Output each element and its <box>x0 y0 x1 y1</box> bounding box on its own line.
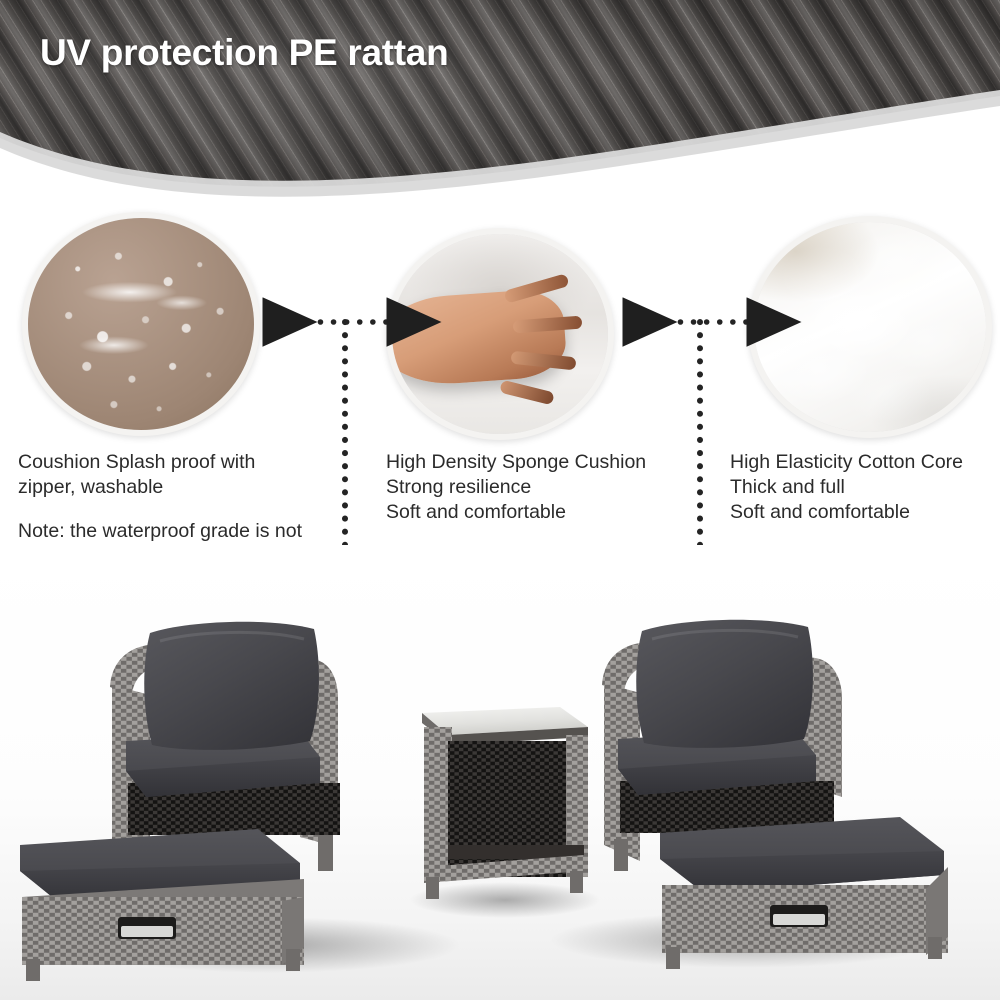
hero-banner: UV protection PE rattan <box>0 0 1000 200</box>
feature-image-sponge-cushion <box>386 228 614 440</box>
feature-image-cotton-core <box>748 216 992 438</box>
feature-note-line: Note: the waterproof grade is not <box>18 519 348 544</box>
ottoman-right <box>660 817 948 969</box>
feature-text-cotton-core: High Elasticity Cotton Core Thick and fu… <box>730 450 1000 525</box>
feature-line: Soft and comfortable <box>730 500 1000 525</box>
feature-image-splash-proof <box>22 212 260 436</box>
page-title: UV protection PE rattan <box>40 32 448 74</box>
product-photo <box>0 545 1000 1000</box>
feature-line: High Elasticity Cotton Core <box>730 450 1000 475</box>
feature-description: Coushion Splash proof with zipper, washa… <box>18 450 348 500</box>
cotton-shading <box>754 222 986 432</box>
patio-furniture-set <box>0 545 1000 1000</box>
product-feature-infographic: UV protection PE rattan <box>0 0 1000 1000</box>
ottoman-left <box>20 829 304 981</box>
feature-line: zipper, washable <box>18 475 348 500</box>
feature-line: Soft and comfortable <box>386 500 696 525</box>
banner-wave-divider <box>0 80 1000 200</box>
feature-line: High Density Sponge Cushion <box>386 450 696 475</box>
feature-line: Thick and full <box>730 475 1000 500</box>
feature-line: Strong resilience <box>386 475 696 500</box>
feature-text-sponge-cushion: High Density Sponge Cushion Strong resil… <box>386 450 696 525</box>
side-table <box>422 707 588 899</box>
water-droplets-icon <box>28 218 254 430</box>
feature-line: Coushion Splash proof with <box>18 450 348 475</box>
